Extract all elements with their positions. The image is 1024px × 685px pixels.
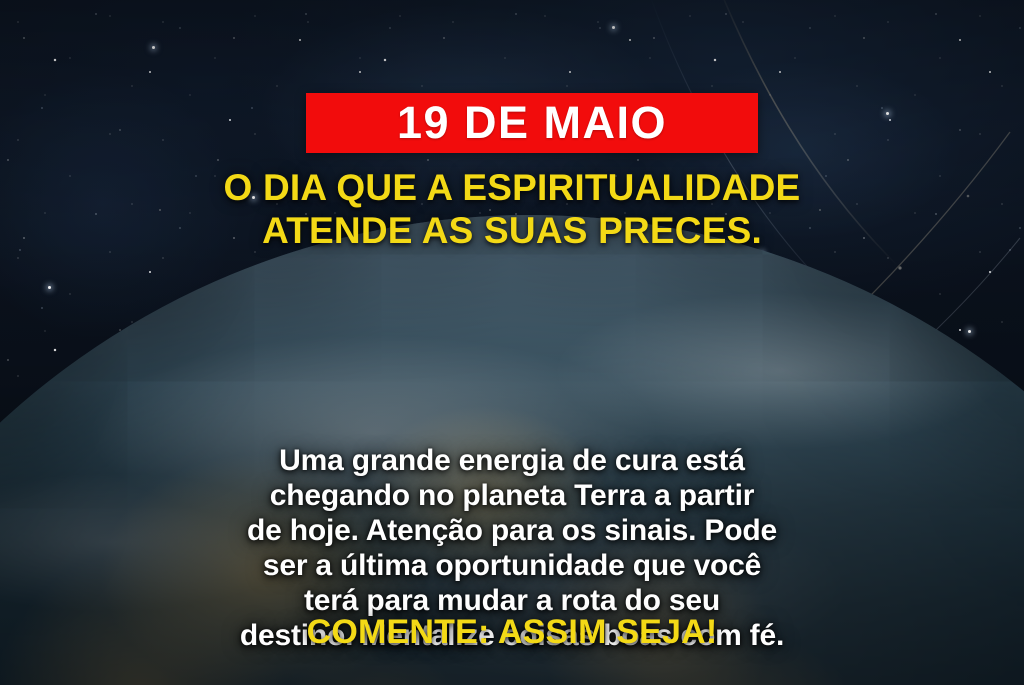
- headline-line-1: O DIA QUE A ESPIRITUALIDADE: [224, 167, 801, 208]
- poster-content: 19 DE MAIO O DIA QUE A ESPIRITUALIDADE A…: [0, 0, 1024, 685]
- call-to-action: COMENTE: ASSIM SEJA!: [0, 613, 1024, 652]
- poster-canvas: 19 DE MAIO O DIA QUE A ESPIRITUALIDADE A…: [0, 0, 1024, 685]
- body-line-4: ser a última oportunidade que você: [62, 548, 962, 583]
- body-line-3: de hoje. Atenção para os sinais. Pode: [62, 513, 962, 548]
- body-line-2: chegando no planeta Terra a partir: [62, 478, 962, 513]
- call-to-action-label: COMENTE: ASSIM SEJA!: [307, 613, 718, 651]
- headline: O DIA QUE A ESPIRITUALIDADE ATENDE AS SU…: [0, 167, 1024, 253]
- date-banner: 19 DE MAIO: [306, 93, 758, 153]
- body-line-1: Uma grande energia de cura está: [62, 443, 962, 478]
- headline-line-2: ATENDE AS SUAS PRECES.: [40, 210, 984, 253]
- date-banner-label: 19 DE MAIO: [397, 100, 667, 145]
